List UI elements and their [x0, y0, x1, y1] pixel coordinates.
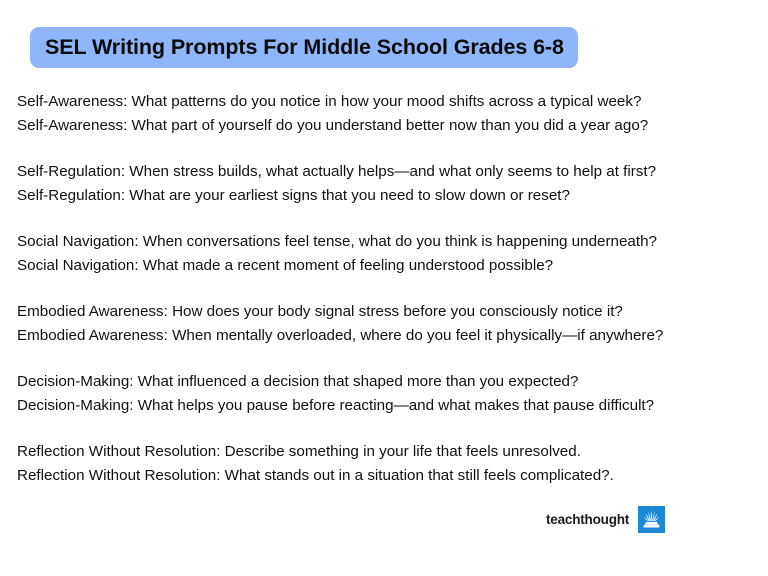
- prompt-line: Reflection Without Resolution: What stan…: [17, 464, 761, 488]
- title-banner: SEL Writing Prompts For Middle School Gr…: [30, 27, 578, 68]
- prompt-line: Social Navigation: When conversations fe…: [17, 230, 761, 254]
- prompt-line: Reflection Without Resolution: Describe …: [17, 440, 761, 464]
- prompt-group-self-awareness: Self-Awareness: What patterns do you not…: [17, 90, 761, 138]
- brand-wordmark: teachthought: [546, 513, 629, 527]
- prompt-line: Decision-Making: What influenced a decis…: [17, 370, 761, 394]
- brand-footer: teachthought: [546, 506, 665, 533]
- prompt-line: Self-Awareness: What part of yourself do…: [17, 114, 761, 138]
- prompt-line: Embodied Awareness: When mentally overlo…: [17, 324, 761, 348]
- prompt-line: Self-Awareness: What patterns do you not…: [17, 90, 761, 114]
- prompt-line: Decision-Making: What helps you pause be…: [17, 394, 761, 418]
- slide-canvas: SEL Writing Prompts For Middle School Gr…: [0, 0, 768, 576]
- prompt-line: Embodied Awareness: How does your body s…: [17, 300, 761, 324]
- teachthought-torch-logo-icon: [638, 506, 665, 533]
- prompt-line: Self-Regulation: What are your earliest …: [17, 184, 761, 208]
- prompt-group-decision-making: Decision-Making: What influenced a decis…: [17, 370, 761, 418]
- page-title: SEL Writing Prompts For Middle School Gr…: [45, 37, 564, 59]
- prompt-group-self-regulation: Self-Regulation: When stress builds, wha…: [17, 160, 761, 208]
- prompt-group-social-navigation: Social Navigation: When conversations fe…: [17, 230, 761, 278]
- prompt-line: Social Navigation: What made a recent mo…: [17, 254, 761, 278]
- prompt-group-embodied-awareness: Embodied Awareness: How does your body s…: [17, 300, 761, 348]
- prompt-group-reflection-without-resolution: Reflection Without Resolution: Describe …: [17, 440, 761, 488]
- prompt-list: Self-Awareness: What patterns do you not…: [17, 90, 761, 488]
- prompt-line: Self-Regulation: When stress builds, wha…: [17, 160, 761, 184]
